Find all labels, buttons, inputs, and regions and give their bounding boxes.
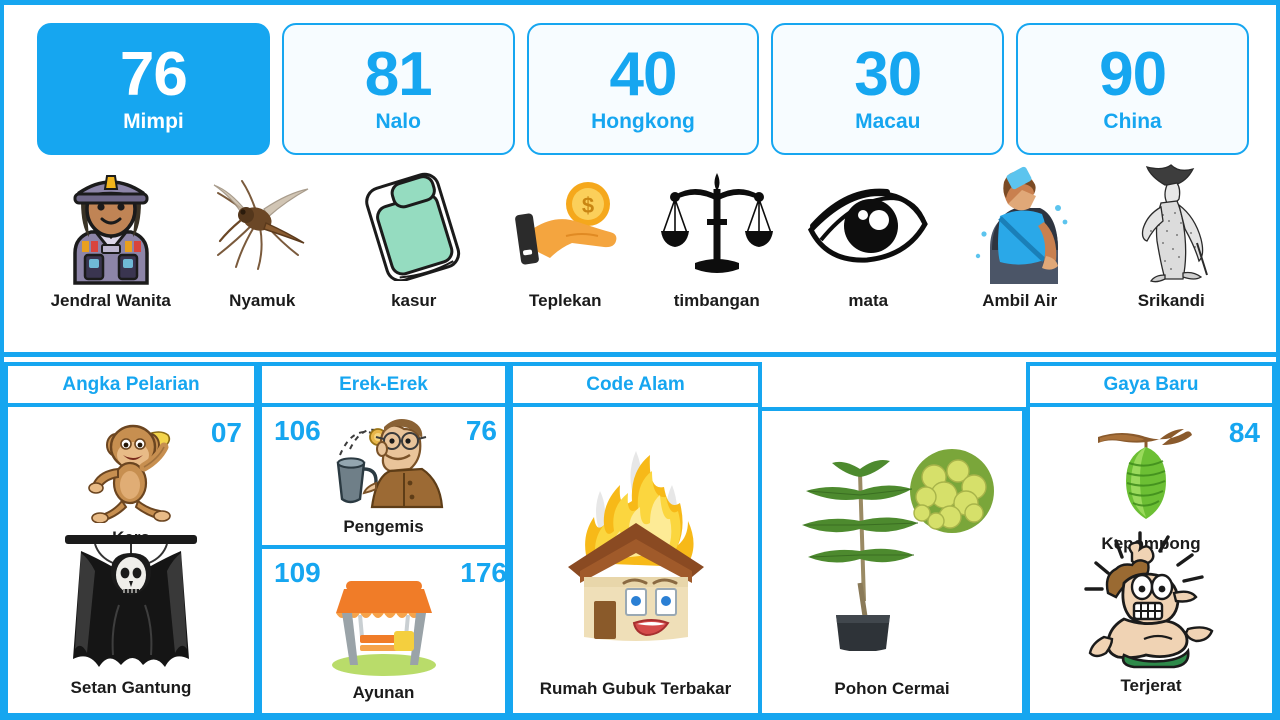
cermai-tree-icon [774,433,1010,656]
erek-label: Pengemis [262,517,505,537]
market-label: Macau [855,111,920,132]
market-label: Nalo [375,111,421,132]
police-woman-icon [48,161,174,289]
symbol-label: timbangan [674,291,760,311]
market-number: 76 [120,46,187,105]
symbol-icons-row: Jendral Wanita [4,155,1276,311]
symbol-label: mata [848,291,888,311]
symbol-item-ambil-air[interactable]: Ambil Air [945,161,1095,311]
symbol-item-jendral-wanita[interactable]: Jendral Wanita [36,161,186,311]
erek-left-number: 106 [274,417,321,445]
section-body-angka-pelarian: 07 [4,407,258,717]
erek-card-ayunan[interactable]: 109 176 Ayunan [258,549,509,717]
section-header-empty [762,362,1026,407]
code-alam-label: Pohon Cermai [762,679,1022,699]
market-cards-row: 76 Mimpi 81 Nalo 40 Hongkong 30 Macau 90… [4,5,1276,155]
pelarian-label: Setan Gantung [71,678,192,698]
market-number: 40 [610,46,677,105]
market-label: Hongkong [591,111,695,132]
section-body-gaya-baru: 84 [1026,407,1276,717]
section-title: Gaya Baru [1103,374,1198,396]
market-card-china[interactable]: 90 China [1016,23,1249,155]
code-alam-body-burning-house[interactable]: Rumah Gubuk Terbakar [509,407,762,717]
section-header-code-alam: Code Alam [509,362,762,407]
section-title: Code Alam [586,374,685,396]
section-header-gaya-baru: Gaya Baru [1026,362,1276,407]
erek-right-number: 176 [460,559,507,587]
section-code-alam: Code Alam [509,362,1026,717]
symbol-label: Srikandi [1138,291,1205,311]
section-gaya-baru: Gaya Baru 84 [1026,362,1276,717]
drinking-water-icon [957,161,1083,289]
market-card-nalo[interactable]: 81 Nalo [282,23,515,155]
symbol-label: kasur [391,291,436,311]
pelarian-number-badge: 07 [211,419,242,447]
gaya-baru-number-badge: 84 [1229,419,1260,447]
erek-label: Ayunan [262,683,505,703]
symbol-label: Nyamuk [229,291,295,311]
code-alam-secondary: Pohon Cermai [762,362,1026,717]
hand-coin-icon: $ [502,161,628,289]
symbol-label: Ambil Air [982,291,1057,311]
market-number: 81 [365,46,432,105]
section-title: Erek-Erek [339,374,428,396]
mattress-icon [351,161,477,289]
section-title: Angka Pelarian [62,374,199,396]
code-alam-label: Rumah Gubuk Terbakar [513,679,758,699]
section-angka-pelarian: Angka Pelarian 07 [4,362,258,717]
trapped-man-icon [1078,531,1224,676]
market-card-hongkong[interactable]: 40 Hongkong [527,23,760,155]
symbol-label: Teplekan [529,291,601,311]
symbol-item-teplekan[interactable]: $ Teplekan [491,161,641,311]
prediction-board: 76 Mimpi 81 Nalo 40 Hongkong 30 Macau 90… [0,0,1280,720]
pelarian-item-setan-gantung[interactable]: Setan Gantung [8,531,254,698]
section-header-erek-erek: Erek-Erek [258,362,509,407]
mosquito-icon [199,161,325,289]
market-number: 30 [854,46,921,105]
market-number: 90 [1099,46,1166,105]
section-header-angka-pelarian: Angka Pelarian [4,362,258,407]
symbol-item-srikandi[interactable]: Srikandi [1097,161,1247,311]
bottom-sections-grid: Angka Pelarian 07 [4,362,1276,717]
symbol-label: Jendral Wanita [51,291,171,311]
swing-icon [316,567,452,682]
beggar-icon [318,411,450,514]
hanging-ghost-icon [55,531,207,678]
symbol-item-mata[interactable]: mata [794,161,944,311]
section-erek-erek: Erek-Erek 106 76 [258,362,509,717]
top-section: 76 Mimpi 81 Nalo 40 Hongkong 30 Macau 90… [4,5,1276,357]
market-label: Mimpi [123,111,184,132]
code-alam-primary: Code Alam [509,362,762,717]
symbol-item-nyamuk[interactable]: Nyamuk [188,161,338,311]
code-alam-body-cermai-tree[interactable]: Pohon Cermai [762,407,1026,717]
burning-house-icon [538,441,734,656]
erek-right-number: 76 [466,417,497,445]
erek-card-pengemis[interactable]: 106 76 [258,407,509,549]
erek-left-number: 109 [274,559,321,587]
balance-scale-icon [654,161,780,289]
gaya-label: Terjerat [1120,676,1181,696]
wayang-srikandi-icon [1108,161,1234,289]
cocoon-icon [1088,419,1214,534]
gaya-item-terjerat[interactable]: Terjerat [1030,531,1272,696]
svg-text:$: $ [582,193,594,218]
eye-icon [805,161,931,289]
market-card-macau[interactable]: 30 Macau [771,23,1004,155]
monkey-icon [76,415,186,528]
symbol-item-timbangan[interactable]: timbangan [642,161,792,311]
market-label: China [1103,111,1161,132]
market-card-mimpi[interactable]: 76 Mimpi [37,23,270,155]
symbol-item-kasur[interactable]: kasur [339,161,489,311]
